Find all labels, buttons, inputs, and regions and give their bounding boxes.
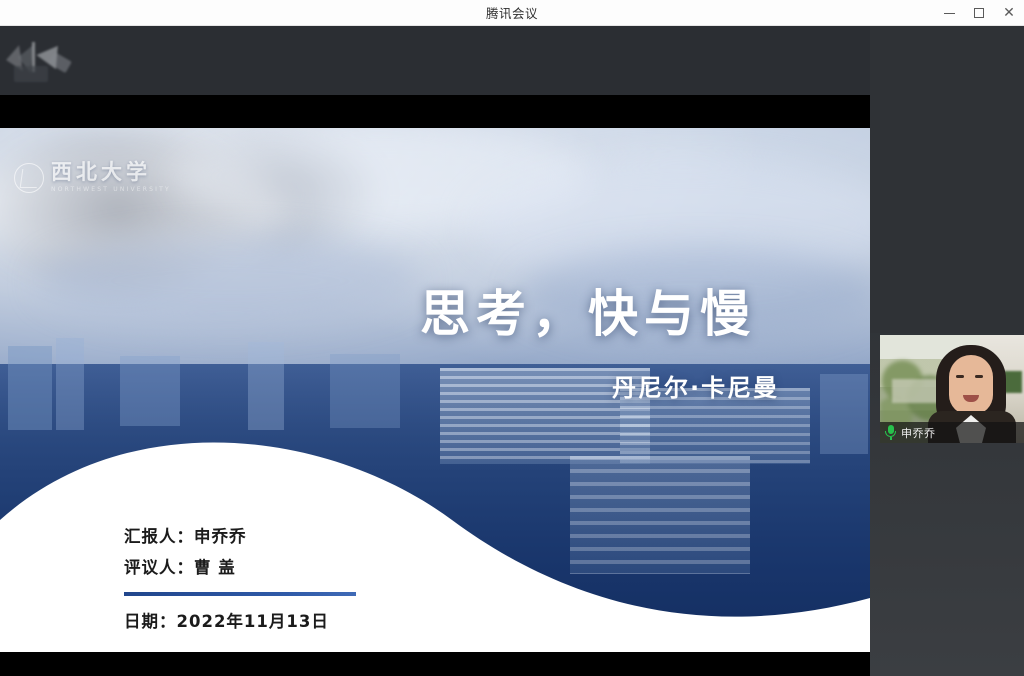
window-controls: ✕ [934, 0, 1024, 26]
participant-name-bar: 申乔乔 [880, 422, 1024, 443]
close-icon: ✕ [1003, 6, 1015, 20]
cursor-arrow-icon-tail [48, 52, 72, 73]
letterbox-top [0, 95, 870, 128]
reviewer-row: 评议人：曹 盖 [124, 552, 454, 583]
microphone-stem [890, 437, 892, 440]
share-toolbar-icons[interactable] [4, 40, 114, 84]
avatar-face [949, 355, 993, 415]
university-logo-text: 西北大学 NORTHWEST UNIVERSITY [51, 162, 171, 193]
building-2 [56, 338, 84, 430]
slide-title: 思考，快与慢 [420, 274, 820, 346]
maximize-icon [974, 8, 984, 18]
university-logo: 西北大学 NORTHWEST UNIVERSITY [14, 162, 171, 193]
avatar-eye-right [975, 375, 983, 378]
window-titlebar: 腾讯会议 ✕ [0, 0, 1024, 26]
slide-info-block: 汇报人：申乔乔 评议人：曹 盖 日期：2022年11月13日 [124, 521, 454, 637]
avatar-eye-left [956, 375, 964, 378]
participant-video-tile[interactable]: 申乔乔 [880, 335, 1024, 443]
university-emblem-icon [14, 163, 44, 193]
shared-screen-stage: 西北大学 NORTHWEST UNIVERSITY 思考，快与慢 丹尼尔·卡尼曼… [0, 26, 870, 676]
sidebar-empty-area [870, 26, 1024, 333]
minimize-icon [944, 13, 955, 14]
building-5 [330, 354, 400, 428]
presenter-row: 汇报人：申乔乔 [124, 521, 454, 552]
university-name-en: NORTHWEST UNIVERSITY [51, 187, 171, 193]
building-3 [120, 356, 180, 426]
slide-cloud-4 [40, 236, 420, 326]
presentation-slide: 西北大学 NORTHWEST UNIVERSITY 思考，快与慢 丹尼尔·卡尼曼… [0, 128, 870, 652]
letterbox-bottom [0, 652, 870, 676]
mid-rise-building [570, 456, 750, 574]
toolbar-blur-block [14, 66, 48, 82]
participant-sidebar: 申乔乔 [870, 26, 1024, 676]
building-4 [248, 342, 284, 430]
participant-name: 申乔乔 [901, 425, 936, 441]
tencent-meeting-window: 腾讯会议 ✕ [0, 0, 1024, 676]
maximize-button[interactable] [964, 0, 994, 26]
info-divider [124, 592, 356, 596]
building-1 [8, 346, 52, 430]
share-toolbar[interactable] [0, 26, 870, 95]
window-title: 腾讯会议 [486, 3, 538, 22]
minimize-button[interactable] [934, 0, 964, 26]
microphone-icon[interactable] [884, 425, 897, 440]
close-button[interactable]: ✕ [994, 0, 1024, 26]
date-row: 日期：2022年11月13日 [124, 606, 454, 637]
slide-author: 丹尼尔·卡尼曼 [612, 368, 870, 403]
university-name-cn: 西北大学 [51, 162, 171, 183]
